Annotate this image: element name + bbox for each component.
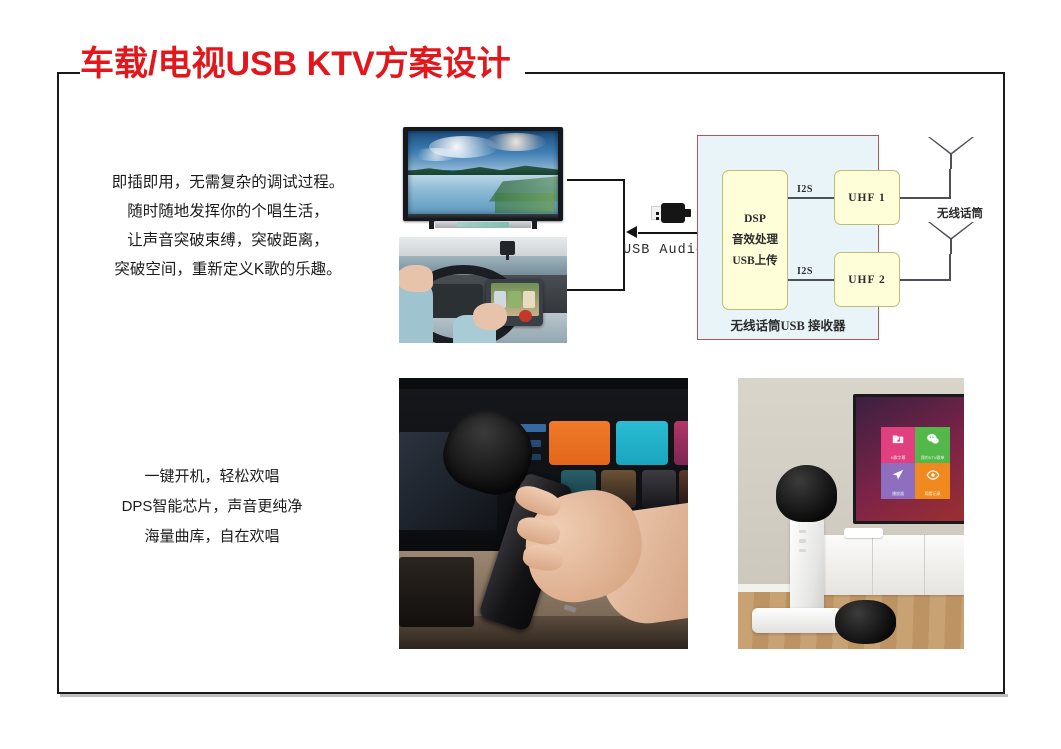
driver-right-hand [473, 303, 507, 331]
display-tile [549, 421, 610, 464]
microphone-button [799, 539, 806, 543]
dsp-line-1: DSP [744, 209, 766, 230]
cabinet-door-seam [924, 535, 925, 595]
microphone-button [799, 530, 806, 534]
dashcam-icon [500, 241, 515, 255]
feature-line-4: 突破空间，重新定义K歌的乐趣。 [68, 255, 388, 284]
dsp-block: DSP 音效处理 USB上传 [722, 170, 788, 310]
wall-mounted-tv: K歌字幕 我的KTV歌单 播放器 [853, 394, 964, 524]
slide-border-shadow [60, 694, 1008, 697]
car-connection-wire [567, 289, 624, 291]
tv-app-tile-label: K歌字幕 [891, 455, 906, 463]
tv-app-tile-label: 播放器 [892, 491, 904, 499]
benefit-line-3: 海量曲库，自在欢唱 [62, 522, 362, 552]
paper-plane-icon [891, 468, 905, 482]
uhf2-label: UHF 2 [848, 274, 885, 286]
antenna-triangle-inner [930, 137, 972, 153]
dashcam-mount [506, 254, 509, 260]
tv-app-tile-label: 我的KTV歌单 [921, 455, 945, 463]
uhf1-block: UHF 1 [834, 170, 900, 225]
lying-microphone-foam-head [835, 600, 896, 643]
cabinet-door-seam [872, 535, 873, 595]
dsp-line-3: USB上传 [732, 251, 777, 272]
uhf2-block: UHF 2 [834, 252, 900, 307]
dsp-line-2: 音效处理 [732, 230, 778, 251]
tv-cabinet [819, 535, 964, 595]
feature-line-3: 让声音突破束缚，突破距离， [68, 226, 388, 255]
i2s-bus-wire-2 [788, 279, 834, 281]
antenna-wire-1 [900, 197, 951, 199]
slide-canvas: 车载/电视USB KTV方案设计 即插即用，无需复杂的调试过程。 随时随地发挥你… [0, 0, 1061, 749]
music-folder-icon [891, 432, 905, 446]
usb-contact-pin [656, 212, 659, 215]
receiver-panel-caption: 无线话筒USB 接收器 [697, 315, 879, 334]
antenna-wire-2-vertical [949, 254, 951, 280]
chat-icon [926, 432, 940, 446]
tv-chassis [403, 127, 563, 221]
microphone-in-car-photo [399, 378, 688, 649]
usb-connector-icon [651, 203, 689, 223]
i2s-label-1: I2S [797, 184, 813, 195]
standing-microphone-foam-head [776, 465, 837, 522]
tv-bezel [408, 131, 558, 215]
tv-app-tile-player: 播放器 [881, 463, 916, 499]
antenna-stem [950, 153, 952, 169]
tv-stand-light [457, 222, 509, 227]
uhf1-label: UHF 1 [848, 192, 885, 204]
tv-leg [532, 219, 537, 229]
antenna-wire-2 [900, 279, 951, 281]
connection-bus-wire [623, 179, 625, 291]
remote-control [844, 528, 882, 537]
benefit-line-1: 一键开机，轻松欢唱 [62, 462, 362, 492]
antenna-stem [950, 238, 952, 254]
driver-left-hand [399, 265, 433, 293]
tv-app-tile-chat: 我的KTV歌单 [915, 427, 950, 463]
feature-text-block: 即插即用，无需复杂的调试过程。 随时随地发挥你的个唱生活， 让声音突破束缚，突破… [68, 168, 388, 284]
record-button-icon [519, 310, 532, 322]
usb-contact-pin [656, 217, 659, 220]
eye-icon [926, 468, 940, 482]
tv-app-tile-ktv: K歌字幕 [881, 427, 916, 463]
antenna-triangle-inner [930, 222, 972, 238]
i2s-label-2: I2S [797, 266, 813, 277]
feature-line-2: 随时随地发挥你的个唱生活， [68, 197, 388, 226]
head-unit-tile [508, 291, 520, 308]
display-album-tile [642, 470, 677, 508]
tv-connection-wire [567, 179, 624, 181]
driver-left-arm [399, 284, 433, 343]
tv-app-tile-label: 观看记录 [925, 491, 941, 499]
wireless-mic-label: 无线话筒 [925, 205, 995, 221]
standing-microphone-body [790, 516, 824, 614]
microphone-button [799, 549, 806, 553]
antenna-icon [928, 137, 974, 169]
car-dash-vent [399, 557, 474, 627]
arrow-left-icon [626, 226, 637, 238]
benefit-line-2: DPS智能芯片，声音更纯净 [62, 492, 362, 522]
antenna-icon [928, 222, 974, 254]
usb-plug-body [661, 203, 685, 223]
living-room-photo: K歌字幕 我的KTV歌单 播放器 [738, 378, 964, 649]
head-unit-tile [523, 291, 535, 308]
display-tile [616, 421, 668, 464]
lying-microphone-body [752, 608, 842, 632]
tv-app-tile-history: 观看记录 [915, 463, 950, 499]
usb-cable-strain-relief [683, 209, 691, 217]
feature-line-1: 即插即用，无需复杂的调试过程。 [68, 168, 388, 197]
i2s-bus-wire-1 [788, 197, 834, 199]
page-title: 车载/电视USB KTV方案设计 [80, 44, 511, 84]
page-title-container: 车载/电视USB KTV方案设计 [80, 40, 525, 88]
benefit-text-block: 一键开机，轻松欢唱 DPS智能芯片，声音更纯净 海量曲库，自在欢唱 [62, 462, 362, 552]
tv-app-grid: K歌字幕 我的KTV歌单 播放器 [881, 427, 950, 499]
car-interior-photo [399, 237, 567, 343]
tv-leg [429, 219, 434, 229]
display-tile [674, 421, 688, 464]
television-photo [399, 125, 567, 235]
antenna-wire-1-vertical [949, 169, 951, 198]
